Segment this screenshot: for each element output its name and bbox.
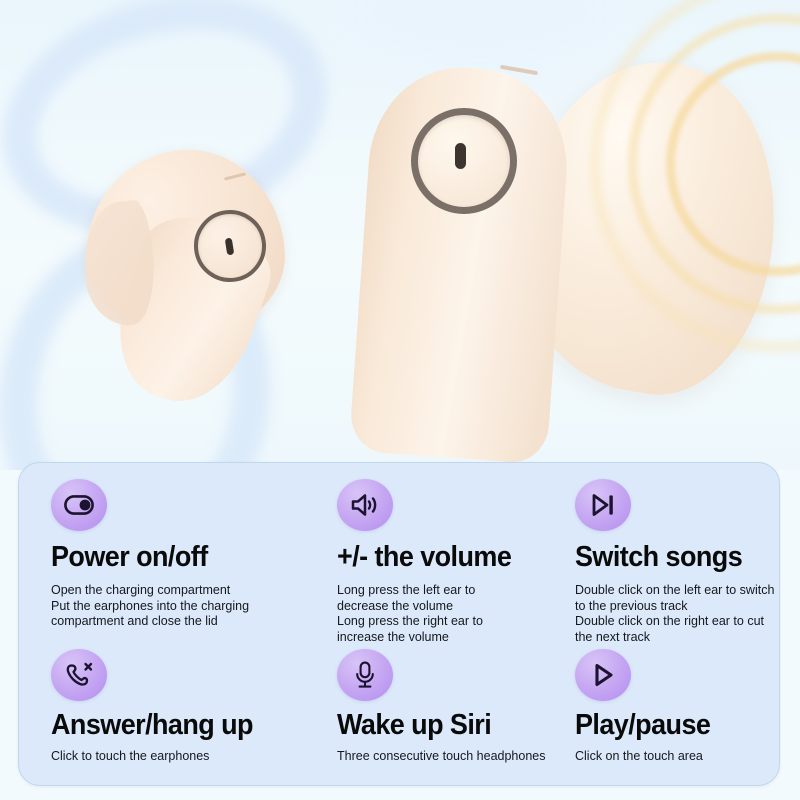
next-track-icon (575, 479, 631, 531)
feature-item-volume: +/- the volume Long press the left ear t… (337, 479, 575, 649)
feature-item-wake-siri: Wake up Siri Three consecutive touch hea… (337, 649, 575, 765)
volume-speaker-icon (337, 479, 393, 531)
feature-title: Switch songs (575, 543, 796, 572)
feature-item-play-pause: Play/pause Click on the touch area (575, 649, 800, 765)
feature-panel: Power on/off Open the charging compartme… (18, 462, 780, 786)
right-earbud-sensor-slot (455, 143, 466, 169)
power-toggle-icon (51, 479, 107, 531)
left-earbud (82, 150, 312, 400)
feature-description: Three consecutive touch headphones (337, 749, 575, 765)
feature-item-power: Power on/off Open the charging compartme… (51, 479, 337, 649)
feature-description: Click on the touch area (575, 749, 800, 765)
feature-title: Answer/hang up (51, 711, 317, 740)
feature-title: Wake up Siri (337, 711, 558, 740)
feature-item-answer-hangup: Answer/hang up Click to touch the earpho… (51, 649, 337, 765)
feature-description: Open the charging compartment Put the ea… (51, 583, 337, 630)
feature-description: Click to touch the earphones (51, 749, 337, 765)
page-root: Power on/off Open the charging compartme… (0, 0, 800, 800)
feature-title: +/- the volume (337, 543, 558, 572)
feature-item-switch-songs: Switch songs Double click on the left ea… (575, 479, 800, 649)
feature-title: Play/pause (575, 711, 796, 740)
phone-hangup-icon (51, 649, 107, 701)
feature-description: Long press the left ear to decrease the … (337, 583, 575, 645)
product-photo (0, 0, 800, 470)
feature-grid: Power on/off Open the charging compartme… (19, 479, 779, 765)
play-icon (575, 649, 631, 701)
right-earbud (350, 40, 750, 460)
feature-title: Power on/off (51, 543, 317, 572)
microphone-icon (337, 649, 393, 701)
feature-description: Double click on the left ear to switch t… (575, 583, 800, 645)
